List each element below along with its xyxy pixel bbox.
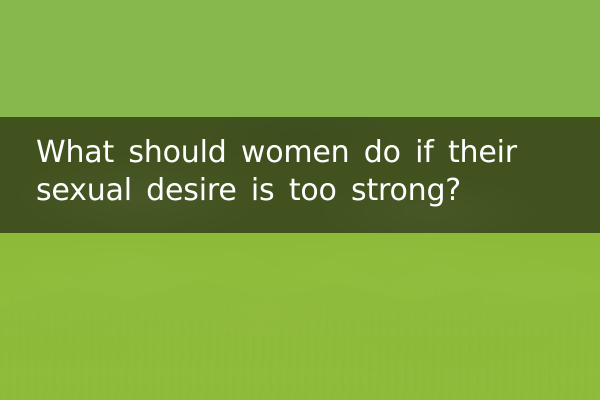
caption-title: What should women do if their sexual des…: [36, 134, 576, 210]
bottom-green-overlay: [0, 233, 600, 400]
top-green-overlay: [0, 0, 600, 117]
thumbnail-image: What should women do if their sexual des…: [0, 0, 600, 400]
caption-banner: What should women do if their sexual des…: [0, 117, 600, 233]
